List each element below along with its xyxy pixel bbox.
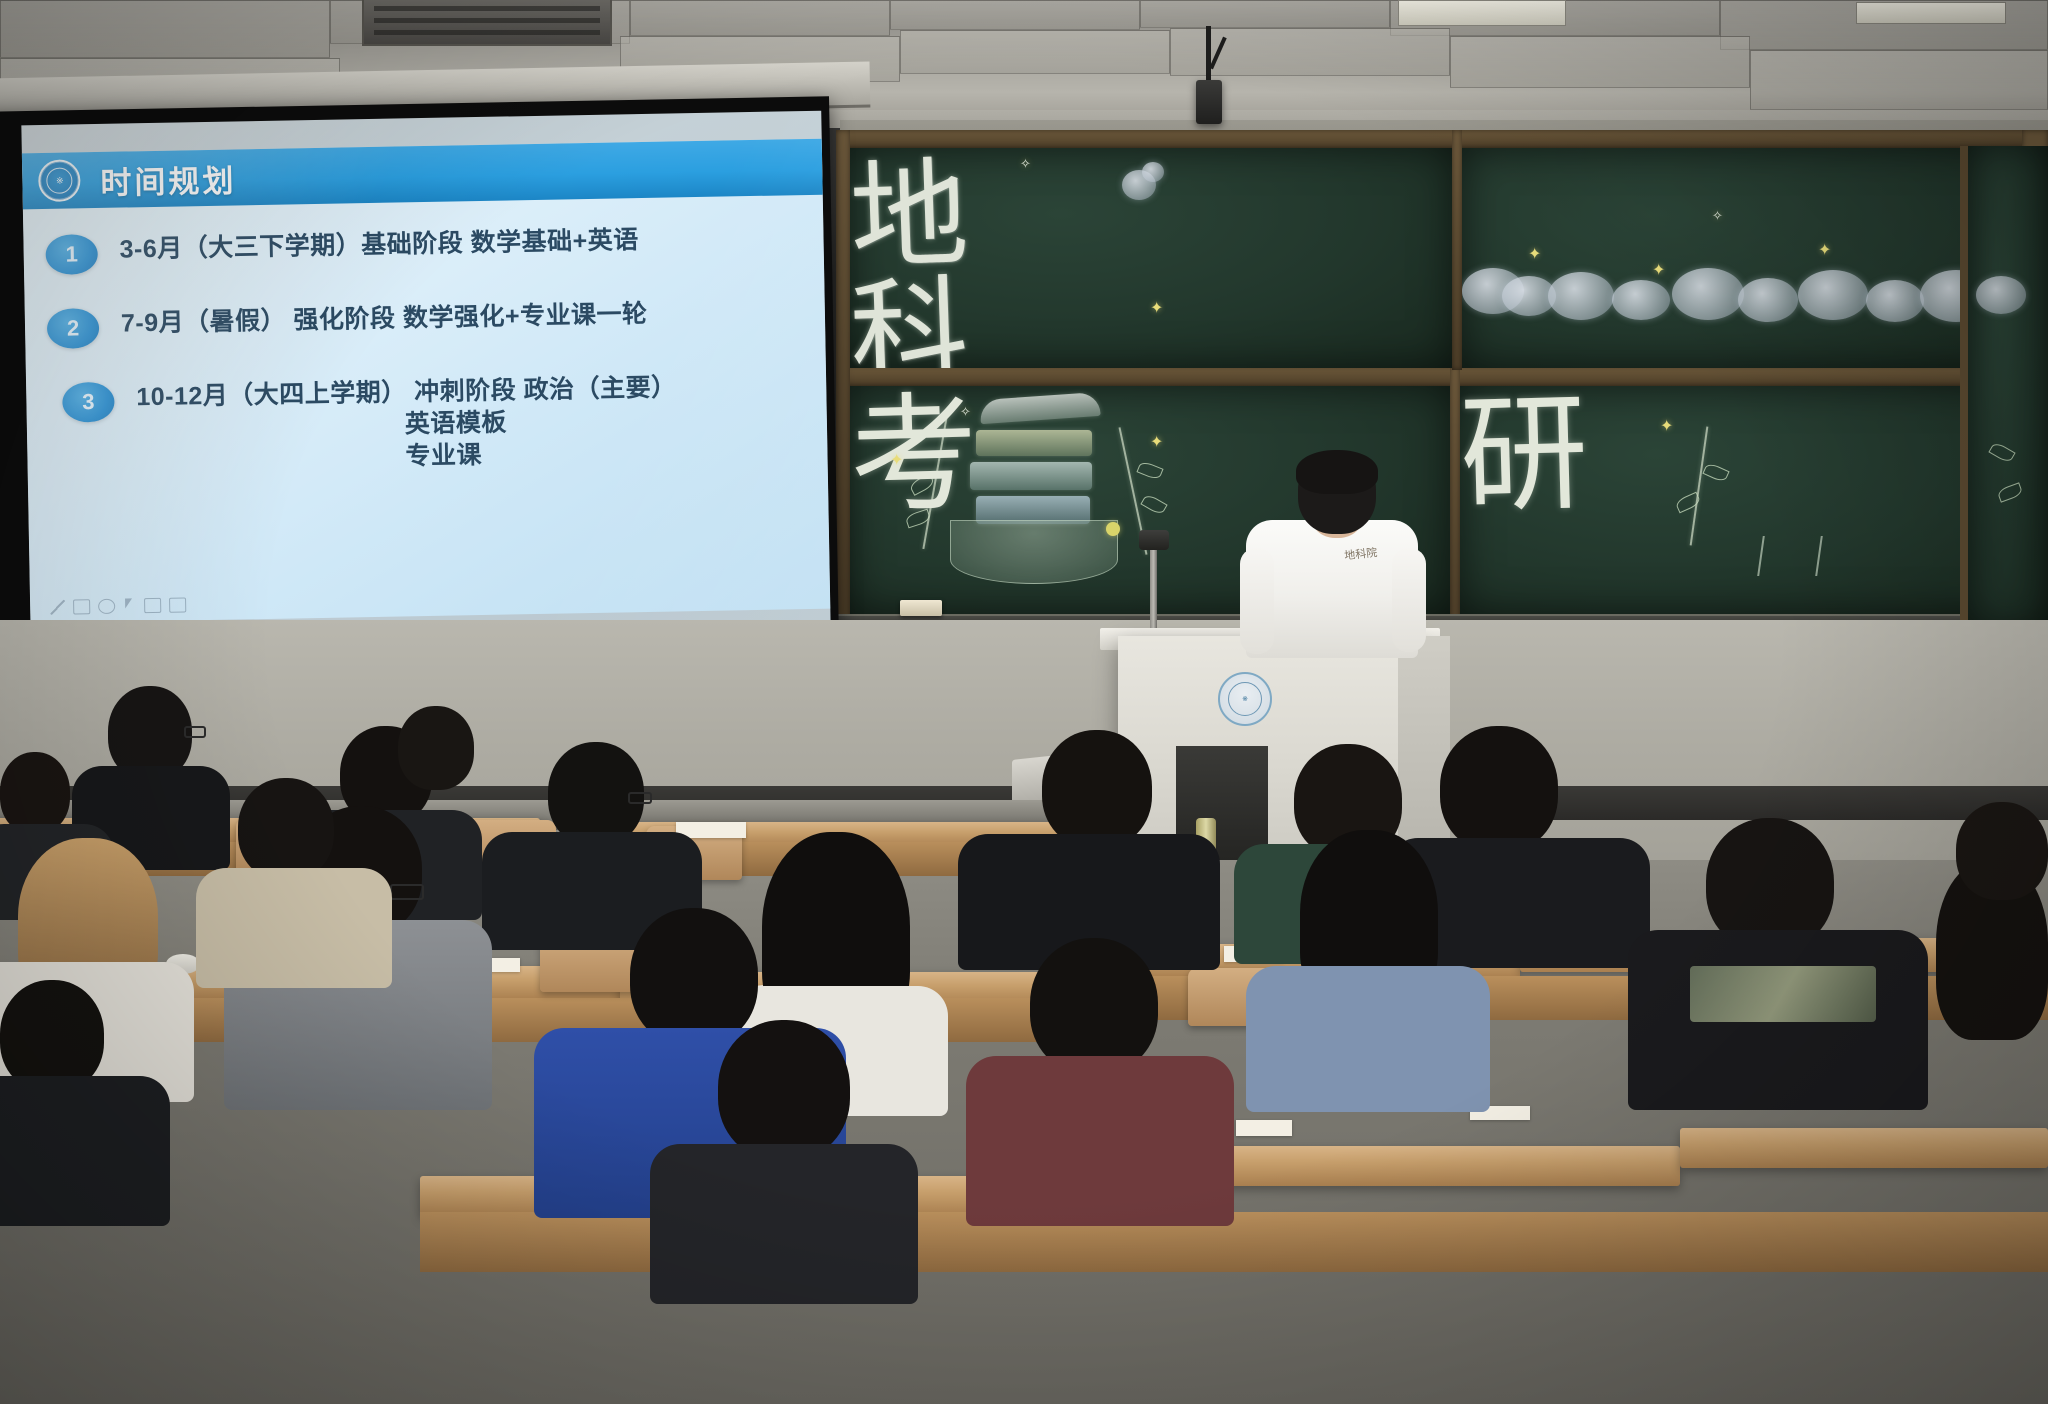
student-body (650, 1144, 918, 1304)
ceiling-light-icon (1856, 2, 2006, 24)
presentation-slide: ※ 时间规划 1 3-6月（大三下学期）基础阶段 数学基础+英语 2 7-9月（… (22, 139, 830, 624)
student-head (1030, 938, 1158, 1074)
student-body (966, 1056, 1234, 1226)
slide-annotation-toolbar[interactable] (50, 597, 186, 614)
ceiling-light-icon (1398, 0, 1566, 26)
podium-emblem-inner: ※ (1228, 682, 1262, 716)
blackboard-panel-top: 地 科 院 (850, 148, 1452, 368)
student-head (238, 778, 334, 880)
slide-title: 时间规划 (100, 155, 237, 202)
rectangle-icon[interactable] (73, 599, 90, 614)
student-head (718, 1020, 850, 1160)
bullet-number-badge: 2 (47, 308, 100, 349)
flower-drawing-icon (1106, 522, 1120, 536)
slide-bullet-row: 2 7-9月（暑假） 强化阶段 数学强化+专业课一轮 (47, 295, 826, 349)
ellipse-icon[interactable] (98, 599, 115, 614)
student-head (0, 752, 70, 834)
student-head (630, 908, 758, 1046)
student-head (398, 706, 474, 790)
cloud-drawing-icon (1142, 162, 1164, 182)
shirt-graphic (1690, 966, 1876, 1022)
cursor-icon[interactable] (123, 598, 136, 613)
bullet-text-group: 10-12月（大四上学期） 冲刺阶段 政治（主要） 英语模板 专业课 (136, 371, 678, 477)
podium-emblem-icon: ※ (1218, 672, 1272, 726)
glasses-icon (628, 792, 652, 804)
student-head (1956, 802, 2048, 900)
camera-icon[interactable] (144, 598, 161, 613)
speaker-arm-right (1392, 548, 1426, 652)
lecture-hall-scene: 地 科 院 (0, 0, 2048, 1404)
student-head (1440, 726, 1558, 852)
hanging-cable (1206, 26, 1211, 84)
note-icon[interactable] (169, 597, 186, 612)
blackboard-far-right (1960, 146, 2048, 626)
grass-bowl-drawing-icon (950, 520, 1118, 584)
pen-icon[interactable] (50, 600, 65, 615)
glasses-icon (184, 726, 206, 738)
grass-drawing-icon (1757, 536, 1823, 576)
projector-screen: ※ 时间规划 1 3-6月（大三下学期）基础阶段 数学基础+英语 2 7-9月（… (21, 111, 830, 642)
speaker-hair-fringe (1296, 450, 1378, 494)
air-vent-icon (362, 0, 612, 46)
student-body (0, 1076, 170, 1226)
student-body (196, 868, 392, 988)
paper-sheet (1236, 1120, 1292, 1136)
student-body (1246, 966, 1490, 1112)
microphone-icon (1139, 530, 1169, 550)
slide-bullet-row: 3 10-12月（大四上学期） 冲刺阶段 政治（主要） 英语模板 专业课 (62, 369, 828, 479)
bullet-text: 7-9月（暑假） 强化阶段 数学强化+专业课一轮 (121, 298, 648, 340)
student-head (1042, 730, 1152, 848)
emblem-inner-ring: ※ (46, 167, 72, 193)
slide-body: 1 3-6月（大三下学期）基础阶段 数学基础+英语 2 7-9月（暑假） 强化阶… (23, 195, 828, 480)
speaker-arm-left (1240, 548, 1274, 654)
eraser-icon (900, 600, 942, 616)
glasses-icon (390, 884, 424, 900)
chalk-char: 研 (1460, 386, 2022, 521)
camera-box-icon (1196, 80, 1222, 124)
bullet-number-badge: 1 (45, 234, 98, 275)
blackboard: 地 科 院 (836, 130, 2048, 640)
bullet-text: 3-6月（大三下学期）基础阶段 数学基础+英语 (119, 224, 639, 266)
speaker-shirt-print: 地科院 (1344, 546, 1392, 594)
blackboard-panel-top-right (1462, 148, 2022, 368)
slide-bullet-row: 1 3-6月（大三下学期）基础阶段 数学基础+英语 (45, 221, 824, 275)
university-emblem-icon: ※ (38, 159, 81, 202)
blackboard-panel-bottom-right: 研 (1460, 386, 2022, 614)
bullet-number-badge: 3 (62, 382, 115, 423)
desk (1680, 1128, 2048, 1168)
